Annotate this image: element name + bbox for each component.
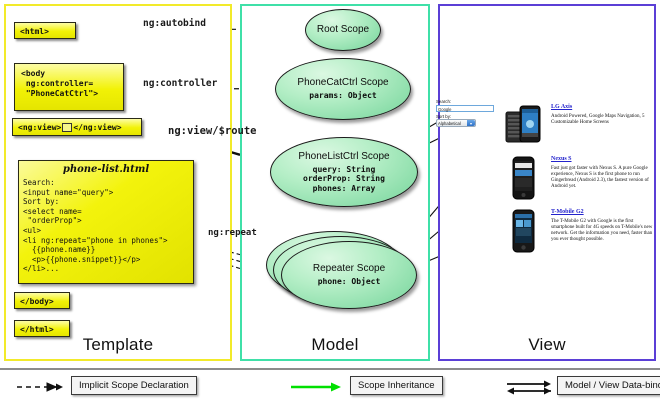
legend-label-data-binding: Model / View Data-binding [557, 376, 660, 395]
scope-phonecatctrl-title: PhoneCatCtrl Scope [297, 77, 388, 88]
ngview-close-tag: </ng:view> [73, 123, 121, 132]
phone-info: Nexus S Fast just got faster with Nexus … [551, 156, 653, 191]
legend-label-implicit-scope-declaration: Implicit Scope Declaration [71, 376, 197, 395]
phone-list-code: Search: <input name="query"> Sort by: <s… [19, 177, 193, 274]
phone-snippet: Fast just got faster with Nexus S. A pur… [551, 166, 653, 190]
code-body-close-tag: </body> [14, 292, 70, 309]
phone-thumbnail-icon [505, 209, 541, 253]
code-body-tag: <body ng:controller= "PhoneCatCtrl"> [14, 63, 124, 111]
scope-phonelistctrl-title: PhoneListCtrl Scope [298, 151, 389, 162]
legend-divider [0, 368, 660, 370]
phone-snippet: The T-Mobile G2 with Google is the first… [551, 219, 653, 243]
panel-template-label: Template [6, 335, 230, 355]
scope-repeater-title: Repeater Scope [313, 263, 385, 274]
connector-label-ng-autobind: ng:autobind [143, 18, 206, 29]
sort-select[interactable]: Alphabetical ▾ [436, 119, 476, 127]
sort-select-value: Alphabetical [438, 121, 461, 126]
chevron-down-icon: ▾ [467, 120, 475, 126]
scope-repeater: Repeater Scope phone: Object [281, 241, 417, 309]
code-ngview-tag: <ng:view></ng:view> [12, 118, 142, 136]
scope-phonecatctrl-props: params: Object [309, 91, 376, 101]
phone-snippet: Android Powered, Google Maps Navigation,… [551, 114, 653, 126]
connector-label-ng-controller: ng:controller [143, 78, 217, 89]
search-input[interactable]: Google [436, 105, 494, 112]
green-arrow-icon [290, 380, 345, 394]
scope-phonelistctrl: PhoneListCtrl Scope query: String orderP… [270, 137, 418, 207]
code-html-tag: <html> [14, 22, 76, 39]
connector-label-ng-view-route: ng:view/$route [168, 125, 257, 137]
phone-info: T-Mobile G2 The T-Mobile G2 with Google … [551, 209, 653, 244]
scope-root: Root Scope [305, 9, 381, 51]
phone-list-title: phone-list.html [19, 161, 193, 177]
phone-name-link[interactable]: T-Mobile G2 [551, 209, 653, 216]
legend-label-scope-inheritance: Scope Inheritance [350, 376, 443, 395]
view-search-form: Search: Google Sort by: Alphabetical ▾ [436, 99, 502, 127]
phone-name-link[interactable]: LG Axis [551, 104, 653, 111]
panel-model-label: Model [242, 335, 428, 355]
dashed-arrow-icon [16, 380, 66, 394]
code-html-close-tag: </html> [14, 320, 70, 337]
architecture-diagram: Template <html> <body ng:controller= "Ph… [0, 0, 660, 405]
panel-view-label: View [440, 335, 654, 355]
scope-phonelistctrl-props: query: String orderProp: String phones: … [303, 165, 385, 194]
code-phone-list-callout: phone-list.html Search: <input name="que… [18, 160, 194, 284]
ngview-placeholder-icon [62, 123, 72, 132]
legend: Implicit Scope Declaration Scope Inherit… [0, 368, 660, 405]
phone-info: LG Axis Android Powered, Google Maps Nav… [551, 104, 653, 126]
phone-thumbnail-icon [505, 156, 541, 200]
scope-phonecatctrl: PhoneCatCtrl Scope params: Object [275, 58, 411, 120]
phone-thumbnail-icon [505, 104, 541, 148]
double-arrow-icon [505, 379, 553, 395]
connector-label-ng-repeat: ng:repeat [208, 228, 257, 238]
scope-repeater-props: phone: Object [318, 277, 381, 287]
phone-name-link[interactable]: Nexus S [551, 156, 653, 163]
scope-root-title: Root Scope [317, 24, 369, 35]
ngview-open-tag: <ng:view> [18, 123, 61, 132]
